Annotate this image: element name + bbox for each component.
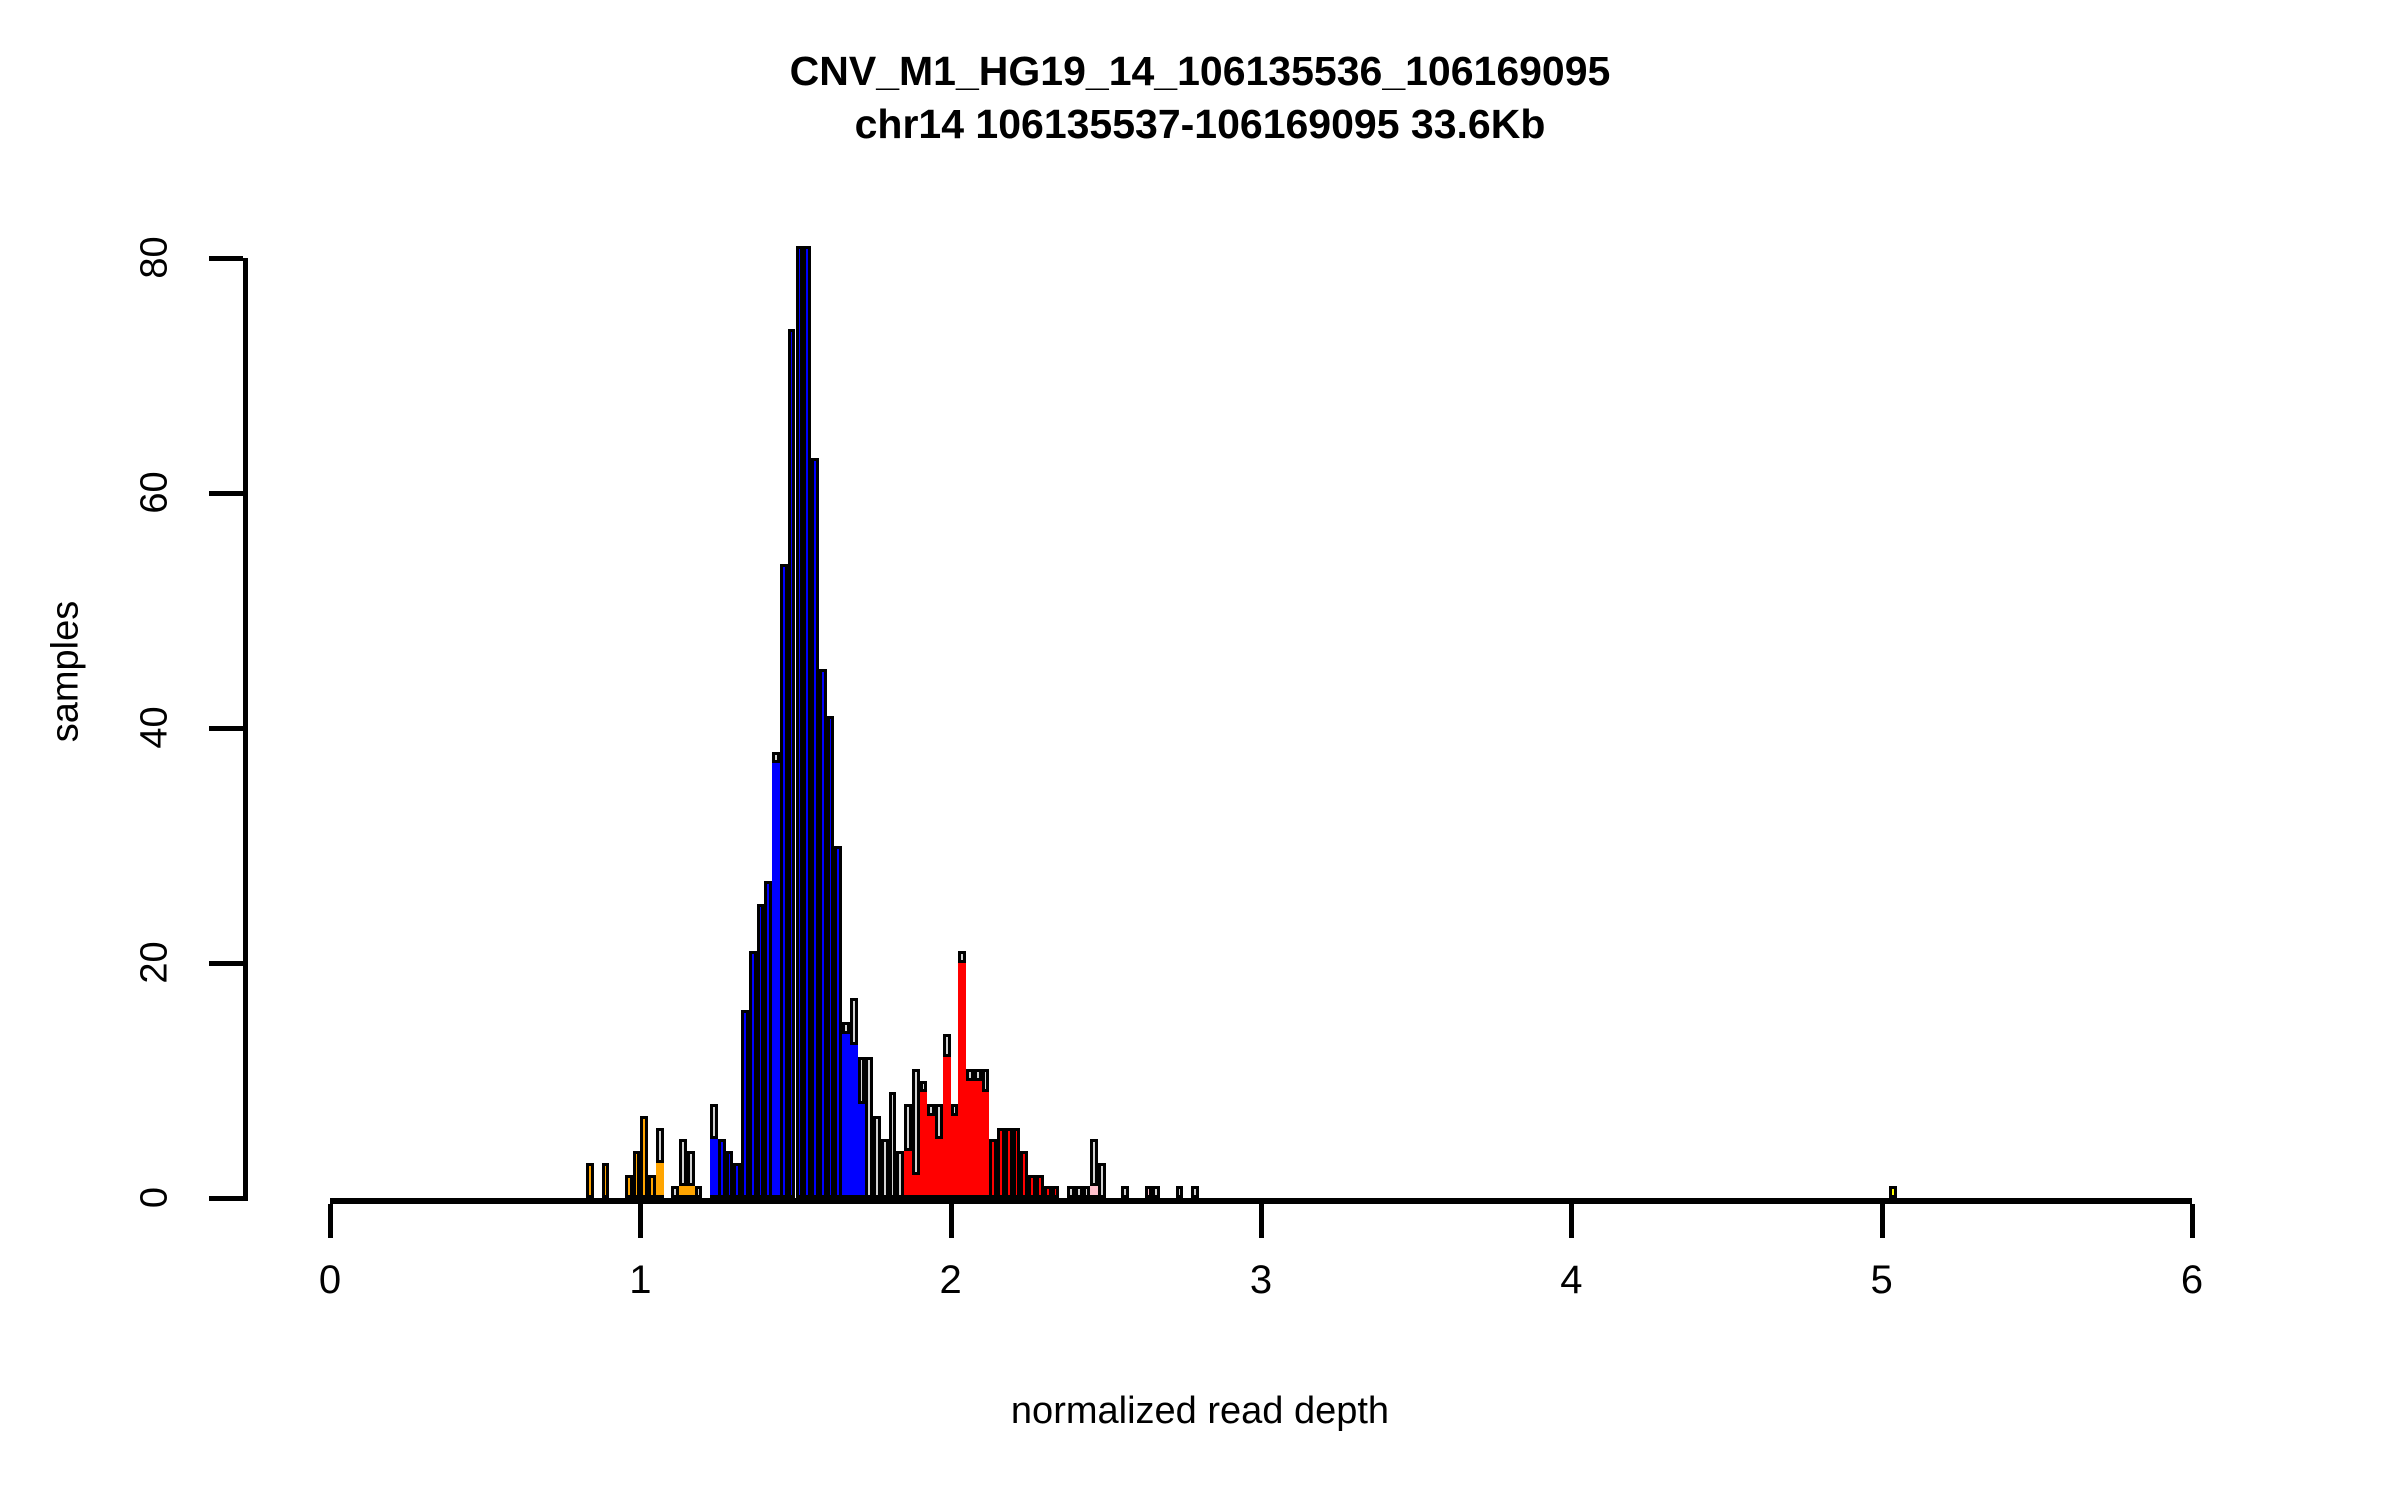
histogram-bar [1121, 1186, 1129, 1198]
chart-root: CNV_M1_HG19_14_106135536_106169095 chr14… [0, 0, 2400, 1500]
x-axis-tick-label: 1 [600, 1258, 680, 1303]
histogram-bar [1044, 1186, 1052, 1198]
histogram-bar [1075, 1186, 1083, 1198]
histogram-bar [927, 1104, 935, 1198]
histogram-bar [920, 1081, 928, 1199]
histogram-bar [803, 246, 811, 1198]
histogram-bar [873, 1116, 881, 1198]
histogram-bar [749, 951, 757, 1198]
histogram-bar [1013, 1128, 1021, 1199]
histogram-bar [1036, 1175, 1044, 1199]
histogram-bar [625, 1175, 633, 1199]
histogram-bar-colored-segment [772, 760, 780, 1195]
histogram-bar [741, 1010, 749, 1198]
x-axis-tick [638, 1204, 643, 1238]
histogram-bar [687, 1151, 695, 1198]
histogram-bar [819, 669, 827, 1198]
histogram-bar [1067, 1186, 1075, 1198]
histogram-bar [1005, 1128, 1013, 1199]
histogram-bar [648, 1175, 656, 1199]
histogram-bar [586, 1163, 594, 1198]
histogram-bar [1145, 1186, 1153, 1198]
histogram-bar [764, 881, 772, 1198]
y-axis-line [243, 258, 248, 1201]
y-axis-tick-label: 60 [134, 458, 177, 528]
x-axis-tick [1259, 1204, 1264, 1238]
y-axis-tick [209, 1196, 243, 1201]
histogram-bar [772, 752, 780, 1199]
histogram-bar [811, 458, 819, 1198]
histogram-bar [834, 846, 842, 1199]
x-axis-tick [328, 1204, 333, 1238]
histogram-bar-colored-segment [966, 1078, 974, 1196]
histogram-bar [602, 1163, 610, 1198]
histogram-bar [1889, 1186, 1897, 1198]
x-axis-tick [949, 1204, 954, 1238]
histogram-bar [1090, 1139, 1098, 1198]
y-axis-tick-label: 80 [134, 223, 177, 293]
histogram-bar [1020, 1151, 1028, 1198]
histogram-bar-colored-segment [982, 1089, 990, 1195]
histogram-bar [1176, 1186, 1184, 1198]
histogram-bar-colored-segment [912, 1172, 920, 1196]
histogram-bar [733, 1163, 741, 1198]
histogram-bar-colored-segment [927, 1113, 935, 1195]
histogram-bar [1152, 1186, 1160, 1198]
histogram-bar [1052, 1186, 1060, 1198]
x-axis-tick [1569, 1204, 1574, 1238]
x-axis-tick-label: 6 [2152, 1258, 2232, 1303]
histogram-bar-colored-segment [842, 1031, 850, 1196]
x-axis-tick [1880, 1204, 1885, 1238]
y-axis-tick [209, 256, 243, 261]
histogram-bar-colored-segment [951, 1113, 959, 1195]
y-axis-tick [209, 726, 243, 731]
histogram-bar-colored-segment [850, 1042, 858, 1195]
histogram-bar [943, 1034, 951, 1199]
x-axis-tick-label: 0 [290, 1258, 370, 1303]
y-axis-tick-label: 0 [134, 1163, 177, 1233]
histogram-bar [896, 1151, 904, 1198]
histogram-bar [780, 564, 788, 1199]
histogram-bar [850, 998, 858, 1198]
histogram-bar [695, 1186, 703, 1198]
histogram-bar [974, 1069, 982, 1198]
histogram-bar [997, 1128, 1005, 1199]
x-axis-tick-label: 5 [1842, 1258, 1922, 1303]
histogram-bar-colored-segment [958, 960, 966, 1195]
histogram-bar [858, 1057, 866, 1198]
histogram-bar-colored-segment [656, 1160, 664, 1195]
histogram-bar [982, 1069, 990, 1198]
histogram-bar [842, 1022, 850, 1198]
x-axis-tick-label: 3 [1221, 1258, 1301, 1303]
histogram-bar [640, 1116, 648, 1198]
x-axis-tick [2190, 1204, 2195, 1238]
histogram-bar [827, 716, 835, 1198]
histogram-bar [671, 1186, 679, 1198]
histogram-bar [881, 1139, 889, 1198]
histogram-bar [788, 329, 796, 1199]
histogram-bar [958, 951, 966, 1198]
histogram-bar [718, 1139, 726, 1198]
y-axis-tick [209, 491, 243, 496]
histogram-bar [951, 1104, 959, 1198]
histogram-bar [865, 1057, 873, 1198]
histogram-bar [679, 1139, 687, 1198]
histogram-bar-colored-segment [679, 1183, 687, 1195]
histogram-bar [966, 1069, 974, 1198]
histogram-bar-colored-segment [1090, 1183, 1098, 1195]
y-axis-tick [209, 961, 243, 966]
y-axis-tick-label: 20 [134, 928, 177, 998]
histogram-bar [710, 1104, 718, 1198]
histogram-bar-colored-segment [974, 1078, 982, 1196]
histogram-bar [656, 1128, 664, 1199]
histogram-bar-colored-segment [858, 1101, 866, 1195]
histogram-bar [1098, 1163, 1106, 1198]
histogram-bar-colored-segment [920, 1089, 928, 1195]
histogram-bar [796, 246, 804, 1198]
histogram-bar-colored-segment [687, 1183, 695, 1195]
histogram-bar-colored-segment [943, 1054, 951, 1195]
histogram-bar [633, 1151, 641, 1198]
histogram-bar [1028, 1175, 1036, 1199]
histogram-bar [989, 1139, 997, 1198]
histogram-bar [1083, 1186, 1091, 1198]
x-axis-tick-label: 2 [911, 1258, 991, 1303]
histogram-bar-colored-segment [710, 1136, 718, 1195]
histogram-bar [935, 1104, 943, 1198]
histogram-bar [1191, 1186, 1199, 1198]
y-axis-tick-label: 40 [134, 693, 177, 763]
histogram-bar [904, 1104, 912, 1198]
histogram-bar [912, 1069, 920, 1198]
plot-area: 020406080 0123456 [0, 0, 2400, 1500]
histogram-bar-colored-segment [904, 1148, 912, 1195]
histogram-bar [757, 904, 765, 1198]
histogram-bar [726, 1151, 734, 1198]
histogram-bar-colored-segment [935, 1136, 943, 1195]
histogram-bar [889, 1092, 897, 1198]
x-axis-tick-label: 4 [1531, 1258, 1611, 1303]
